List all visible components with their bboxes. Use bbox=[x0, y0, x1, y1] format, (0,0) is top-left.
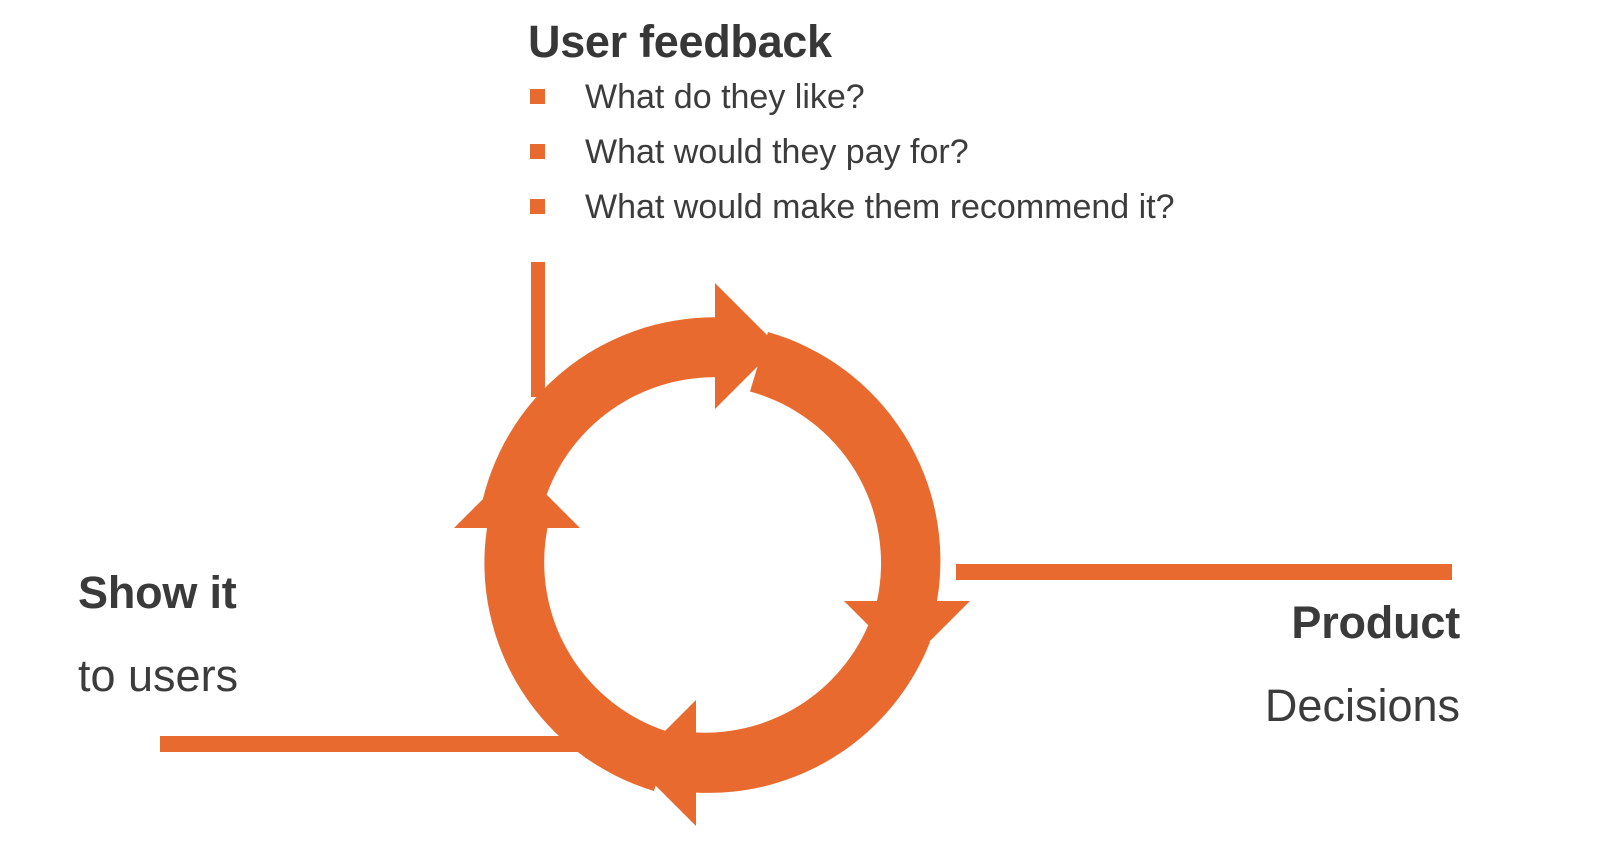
square-bullet-icon bbox=[530, 199, 545, 214]
list-item-label: What would they pay for? bbox=[585, 135, 969, 169]
left-label-subtitle: to users bbox=[78, 653, 498, 698]
square-bullet-icon bbox=[530, 144, 545, 159]
list-item-label: What do they like? bbox=[585, 80, 865, 114]
cycle-arrow-bottom bbox=[633, 613, 930, 826]
product-decisions-label: Product Decisions bbox=[1020, 600, 1460, 728]
show-it-to-users-label: Show it to users bbox=[78, 570, 498, 698]
user-feedback-block: User feedback What do they like? What wo… bbox=[528, 18, 1528, 243]
list-item: What do they like? bbox=[528, 78, 1528, 116]
list-item-label: What would make them recommend it? bbox=[585, 190, 1175, 224]
square-bullet-icon bbox=[530, 89, 545, 104]
cycle-svg bbox=[440, 270, 1000, 840]
right-label-subtitle: Decisions bbox=[1020, 683, 1460, 728]
slide-canvas: User feedback What do they like? What wo… bbox=[0, 0, 1600, 863]
left-label-title: Show it bbox=[78, 570, 498, 615]
list-item: What would make them recommend it? bbox=[528, 188, 1528, 226]
circular-arrows-icon bbox=[440, 270, 1000, 840]
cycle-arrow-right bbox=[750, 332, 970, 664]
user-feedback-title: User feedback bbox=[528, 18, 1528, 66]
right-label-title: Product bbox=[1020, 600, 1460, 645]
user-feedback-list: What do they like? What would they pay f… bbox=[528, 78, 1528, 226]
horizontal-connector-line-right bbox=[956, 564, 1452, 580]
list-item: What would they pay for? bbox=[528, 133, 1528, 171]
cycle-arrow-left bbox=[454, 465, 672, 791]
